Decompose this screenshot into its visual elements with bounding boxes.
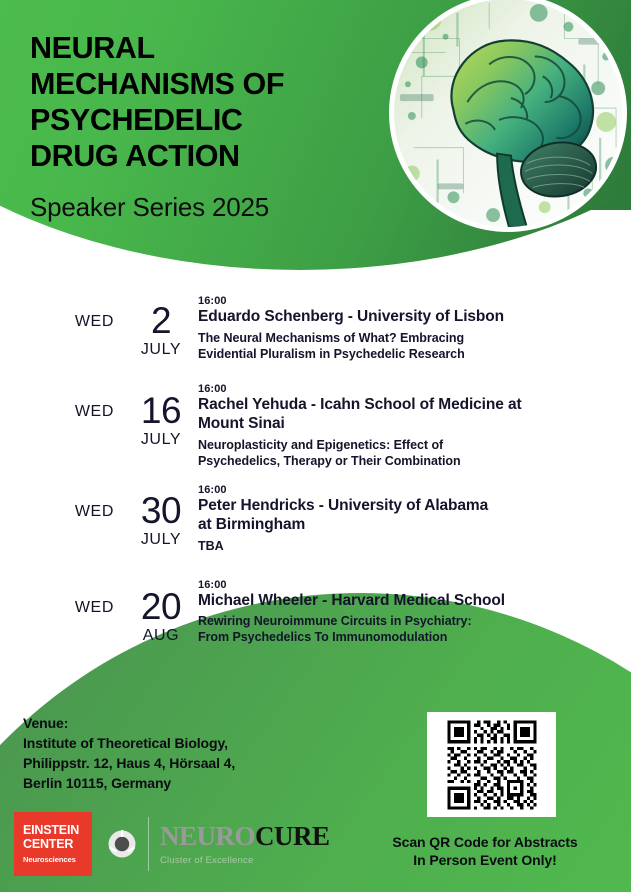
venue-block: Venue: Institute of Theoretical Biology,… — [23, 714, 235, 794]
qr-code-icon[interactable] — [427, 712, 556, 817]
event-speaker: Rachel Yehuda - Icahn School of Medicine… — [198, 396, 548, 434]
event-day: 20 — [130, 590, 192, 624]
event-daymonth: 16 JULY — [130, 394, 192, 449]
neurocure-target-icon — [108, 830, 136, 858]
einstein-logo-line-1: EINSTEIN — [23, 824, 92, 838]
event-talk-line: From Psychedelics To Immunomodulation — [198, 629, 611, 645]
event-day: 30 — [130, 494, 192, 528]
event-talk-line: Evidential Pluralism in Psychedelic Rese… — [198, 346, 611, 362]
page-title-line-4: DRUG ACTION — [30, 138, 400, 174]
event-talk-line: TBA — [198, 538, 611, 554]
event-weekday: WED — [75, 304, 130, 331]
event-time: 16:00 — [198, 383, 611, 395]
neurocure-cure-rest: URE — [274, 823, 330, 850]
event-month: JULY — [130, 431, 192, 449]
event-daymonth: 30 JULY — [130, 494, 192, 549]
list-item: WED 20 AUG 16:00 Michael Wheeler - Harva… — [0, 574, 631, 646]
event-date: WED 2 JULY — [24, 290, 192, 359]
einstein-center-logo: EINSTEIN CENTER Neurosciences — [14, 812, 92, 876]
event-month: JULY — [130, 341, 192, 359]
event-talk-line: Neuroplasticity and Epigenetics: Effect … — [198, 437, 611, 453]
event-speaker: Peter Hendricks - University of Alabama … — [198, 497, 498, 535]
qr-caption-line-1: Scan QR Code for Abstracts — [346, 833, 624, 851]
qr-caption-line-2: In Person Event Only! — [346, 851, 624, 869]
list-item: WED 2 JULY 16:00 Eduardo Schenberg - Uni… — [0, 290, 631, 362]
event-day: 16 — [130, 394, 192, 428]
brain-illustration-svg — [394, 0, 622, 227]
neurocure-neuro-cap: N — [160, 823, 179, 850]
event-month: AUG — [130, 627, 192, 645]
poster-header: NEURAL MECHANISMS OF PSYCHEDELIC DRUG AC… — [30, 30, 400, 223]
event-weekday: WED — [75, 590, 130, 617]
page-subtitle: Speaker Series 2025 — [30, 192, 400, 223]
venue-label: Venue: — [23, 714, 235, 734]
event-talk: TBA — [198, 538, 611, 554]
neurocure-wordmark: NEUROCURE — [160, 823, 330, 850]
event-details: 16:00 Michael Wheeler - Harvard Medical … — [192, 574, 611, 646]
event-speaker: Michael Wheeler - Harvard Medical School — [198, 592, 611, 611]
speaker-schedule-list: WED 2 JULY 16:00 Eduardo Schenberg - Uni… — [0, 290, 631, 659]
event-talk: Neuroplasticity and Epigenetics: Effect … — [198, 437, 611, 469]
neurocure-neuro-rest: EURO — [179, 823, 255, 850]
event-talk-line: Psychedelics, Therapy or Their Combinati… — [198, 453, 611, 469]
qr-code-svg[interactable] — [444, 717, 540, 813]
event-day: 2 — [130, 304, 192, 338]
list-item: WED 16 JULY 16:00 Rachel Yehuda - Icahn … — [0, 378, 631, 469]
event-date: WED 16 JULY — [24, 378, 192, 449]
event-talk: Rewiring Neuroimmune Circuits in Psychia… — [198, 613, 611, 645]
event-weekday: WED — [75, 394, 130, 421]
event-talk-line: The Neural Mechanisms of What? Embracing — [198, 330, 611, 346]
page-title-line-2: MECHANISMS OF — [30, 66, 400, 102]
einstein-logo-line-2: CENTER — [23, 838, 92, 852]
event-daymonth: 2 JULY — [130, 304, 192, 359]
event-talk-line: Rewiring Neuroimmune Circuits in Psychia… — [198, 613, 611, 629]
event-speaker: Eduardo Schenberg - University of Lisbon — [198, 308, 611, 327]
qr-caption: Scan QR Code for Abstracts In Person Eve… — [346, 833, 624, 869]
venue-line-3: Berlin 10115, Germany — [23, 774, 235, 794]
page-title-line-3: PSYCHEDELIC — [30, 102, 400, 138]
event-details: 16:00 Peter Hendricks - University of Al… — [192, 479, 611, 554]
list-item: WED 30 JULY 16:00 Peter Hendricks - Univ… — [0, 479, 631, 554]
event-weekday: WED — [75, 494, 130, 521]
poster-root: NEURAL MECHANISMS OF PSYCHEDELIC DRUG AC… — [0, 0, 631, 892]
event-details: 16:00 Eduardo Schenberg - University of … — [192, 290, 611, 362]
logo-divider — [148, 817, 149, 871]
event-month: JULY — [130, 531, 192, 549]
event-date: WED 20 AUG — [24, 574, 192, 645]
neurocure-logo: NEUROCURE Cluster of Excellence — [160, 823, 330, 866]
event-date: WED 30 JULY — [24, 479, 192, 549]
event-time: 16:00 — [198, 579, 611, 591]
event-details: 16:00 Rachel Yehuda - Icahn School of Me… — [192, 378, 611, 469]
sponsor-logos: EINSTEIN CENTER Neurosciences NEUROCURE … — [14, 812, 330, 876]
event-talk: The Neural Mechanisms of What? Embracing… — [198, 330, 611, 362]
einstein-logo-line-3: Neurosciences — [23, 855, 92, 864]
brain-illustration-icon — [389, 0, 627, 232]
event-time: 16:00 — [198, 295, 611, 307]
neurocure-cure-cap: C — [255, 823, 274, 850]
neurocure-tagline: Cluster of Excellence — [160, 855, 330, 866]
venue-line-1: Institute of Theoretical Biology, — [23, 734, 235, 754]
event-time: 16:00 — [198, 484, 611, 496]
page-title-line-1: NEURAL — [30, 30, 400, 66]
venue-line-2: Philippstr. 12, Haus 4, Hörsaal 4, — [23, 754, 235, 774]
event-daymonth: 20 AUG — [130, 590, 192, 645]
